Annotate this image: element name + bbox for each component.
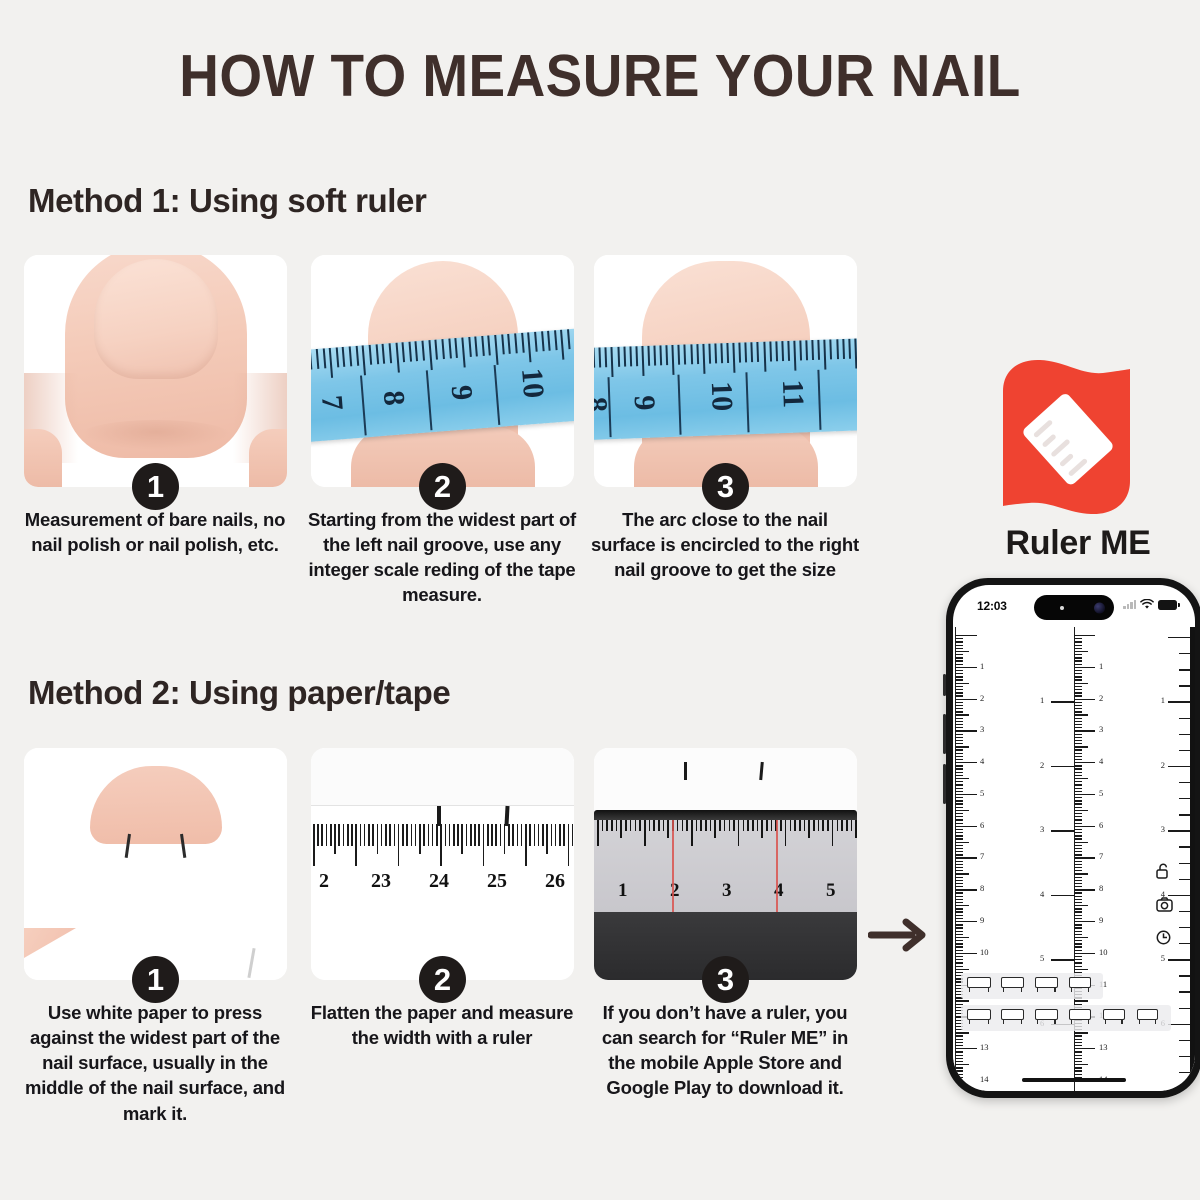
ruler-number: 3	[1161, 824, 1165, 834]
knuckle-shadow	[81, 420, 231, 450]
ruler-number: 1	[980, 661, 984, 671]
method-1-step-2-caption: Starting from the widest part of the lef…	[306, 507, 578, 608]
nail-tip	[90, 766, 222, 844]
ruler-number: 2	[1040, 760, 1044, 770]
step-badge-3: 3	[702, 463, 749, 510]
ruler-number: 4	[1099, 756, 1103, 766]
method-1-step-1-image	[24, 255, 287, 487]
thumb-illustration	[65, 255, 247, 458]
phone-screen[interactable]: 12:03 1234567891011121314 12345678910111…	[953, 585, 1195, 1091]
tape-number: 11	[775, 379, 810, 409]
method-2-step-2-image: 22324252627	[311, 748, 574, 980]
method-2-step-2-caption: Flatten the paper and measure the width …	[306, 1000, 578, 1050]
wifi-icon	[1140, 599, 1154, 610]
cellular-signal-icon	[1123, 600, 1136, 609]
pen-mark-left	[684, 762, 687, 780]
mute-switch[interactable]	[943, 674, 946, 696]
ruler-number: 23	[371, 870, 391, 893]
ruler-number: 24	[429, 870, 449, 893]
ruler-number: 3	[1040, 824, 1044, 834]
left-adjacent-finger	[24, 429, 62, 487]
ruler-number: 5	[980, 788, 984, 798]
ruler-ticks	[311, 824, 574, 868]
ruler-number: 3	[1099, 724, 1103, 734]
step-badge-1: 1	[132, 956, 179, 1003]
step-badge-2: 2	[419, 956, 466, 1003]
ruler-number: 2	[319, 870, 329, 893]
ruler-number: 2	[980, 693, 984, 703]
phone-ruler-face: 12345	[594, 820, 857, 912]
step-badge-3: 3	[702, 956, 749, 1003]
ruler-number: 4	[1040, 889, 1044, 899]
ruler-number: 1	[1161, 695, 1165, 705]
sensor-led-icon	[1060, 606, 1064, 610]
nail-plate	[94, 259, 218, 379]
nail-size-chip[interactable]	[967, 977, 991, 988]
tape-number: 9	[627, 395, 662, 411]
method-1-heading: Method 1: Using soft ruler	[28, 182, 426, 220]
phone-mockup: 12:03 1234567891011121314 12345678910111…	[946, 578, 1200, 1098]
method-1-step-3-caption: The arc close to the nail surface is enc…	[589, 507, 861, 582]
ruler-number: 2	[1099, 693, 1103, 703]
nail-size-chip[interactable]	[1035, 977, 1058, 988]
ruler-number: 10	[1099, 947, 1108, 957]
ruler-number: 5	[826, 880, 836, 902]
ruler-number: 4	[980, 756, 984, 766]
method-2-step-3-caption: If you don’t have a ruler, you can searc…	[589, 1000, 861, 1101]
ruler-number: 13	[1099, 1042, 1108, 1052]
step-badge-2: 2	[419, 463, 466, 510]
nail-size-chip[interactable]	[1001, 977, 1024, 988]
ruler-number: 6	[1099, 820, 1103, 830]
ruler-number: 1	[1099, 661, 1103, 671]
nail-size-chip[interactable]	[1001, 1009, 1024, 1020]
dynamic-island	[1034, 595, 1114, 620]
tape-number: 10	[704, 381, 739, 412]
ruler-number: 25	[487, 870, 507, 893]
ruler-number: 14	[980, 1074, 989, 1084]
nail-size-chip[interactable]	[1069, 977, 1091, 988]
method-1-step-3-image: 8 9 10 11	[594, 255, 857, 487]
front-camera-icon	[1094, 602, 1105, 613]
timer-icon[interactable]	[1156, 930, 1173, 950]
ruler-number: 7	[1099, 851, 1103, 861]
measurement-line	[776, 820, 778, 912]
camera-icon[interactable]	[1156, 897, 1173, 917]
tape-number: 9	[444, 384, 479, 402]
ruler-me-app-label: Ruler ME	[978, 524, 1178, 563]
ruler-number: 10	[980, 947, 989, 957]
right-arrow-icon	[868, 918, 930, 957]
ruler-number: 9	[980, 915, 984, 925]
volume-down-button[interactable]	[943, 764, 946, 804]
ruler-number: 5	[1040, 953, 1044, 963]
paper-strip	[311, 748, 574, 806]
method-1-step-1-caption: Measurement of bare nails, no nail polis…	[19, 507, 291, 557]
ruler-number: 26	[545, 870, 565, 893]
phone-bezel	[594, 810, 857, 820]
tape-measure-strip: 8 9 10 11	[594, 338, 857, 440]
method-2-step-3-image: 12345	[594, 748, 857, 980]
ruler-me-app-block[interactable]	[985, 355, 1148, 520]
method-1-step-2-image: 7 8 9 10	[311, 255, 574, 487]
tape-number: 10	[514, 367, 550, 400]
step-badge-1: 1	[132, 463, 179, 510]
ruler-app-screen[interactable]: 1234567891011121314 12345678910111213141…	[953, 627, 1195, 1091]
volume-up-button[interactable]	[943, 714, 946, 754]
nail-size-chip[interactable]	[1035, 1009, 1058, 1020]
tape-number: 8	[376, 389, 411, 407]
tape-number: 7	[314, 394, 349, 412]
battery-icon	[1158, 600, 1177, 610]
home-indicator[interactable]	[1022, 1078, 1126, 1082]
ruler-number: 3	[980, 724, 984, 734]
ruler-number: 8	[980, 883, 984, 893]
method-2-heading: Method 2: Using paper/tape	[28, 674, 450, 712]
ruler-number: 1	[1040, 695, 1044, 705]
ruler-number: 7	[980, 851, 984, 861]
tape-number: 8	[594, 397, 613, 413]
content-column: Method 1: Using soft ruler	[0, 0, 880, 1200]
ruler-number: 2	[1161, 760, 1165, 770]
unlock-icon[interactable]	[1156, 863, 1173, 884]
status-bar-time: 12:03	[977, 599, 1007, 613]
pen-mark-left	[437, 806, 441, 826]
tool-icon-group[interactable]	[1156, 863, 1173, 963]
ruler-number: 9	[1099, 915, 1103, 925]
nail-size-chip[interactable]	[1103, 1009, 1125, 1020]
method-2-step-1-caption: Use white paper to press against the wid…	[19, 1000, 291, 1126]
ruler-number: 6	[980, 820, 984, 830]
ruler-number: 3	[722, 880, 732, 902]
method-2-step-1-image	[24, 748, 287, 980]
ruler-number: 8	[1099, 883, 1103, 893]
nail-size-chip[interactable]	[1137, 1009, 1158, 1020]
ruler-me-app-icon[interactable]	[985, 355, 1148, 520]
ruler-number: 13	[980, 1042, 989, 1052]
ruler-number: 1	[618, 880, 628, 902]
right-adjacent-finger	[249, 429, 287, 487]
tape-measure-strip: 7 8 9 10	[311, 328, 574, 443]
nail-size-chip[interactable]	[967, 1009, 991, 1020]
ruler-number: 5	[1099, 788, 1103, 798]
status-bar-indicators	[1123, 599, 1177, 610]
ruler-numbers: 22324252627	[311, 870, 574, 904]
nail-size-chip[interactable]	[1069, 1009, 1091, 1020]
measurement-line	[672, 820, 674, 912]
paper-strip	[594, 748, 857, 810]
